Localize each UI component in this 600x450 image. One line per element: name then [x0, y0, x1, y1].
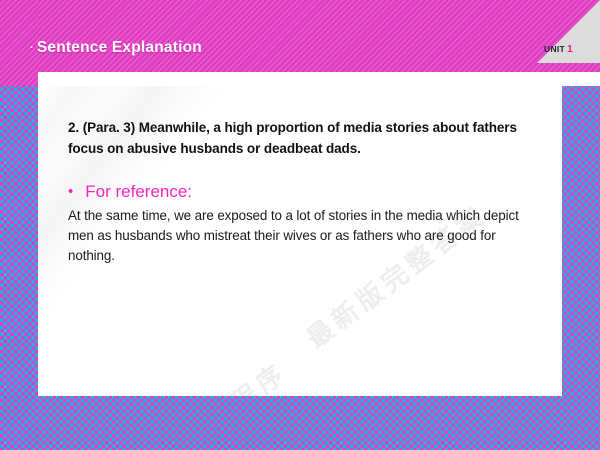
content-card: 微信小程序 最新版完整答案 2. (Para. 3) Meanwhile, a …: [38, 86, 562, 396]
slide-title: ·Sentence Explanation: [30, 39, 202, 57]
reference-heading: •For reference:: [68, 182, 538, 202]
unit-badge-number: 1: [567, 43, 573, 55]
header-band: [0, 0, 600, 72]
watermark-text-line1: 微信小程序: [148, 353, 294, 396]
content-body: 2. (Para. 3) Meanwhile, a high proportio…: [68, 118, 538, 265]
unit-badge-label: UNIT1: [544, 43, 573, 55]
unit-badge-label-text: UNIT: [544, 44, 565, 54]
slide-title-text: Sentence Explanation: [37, 39, 202, 56]
card-top-fill: [38, 72, 600, 86]
slide-root: ·Sentence Explanation UNIT1 微信小程序 最新版完整答…: [0, 0, 600, 450]
title-bullet-icon: ·: [30, 42, 34, 54]
unit-badge: UNIT1: [537, 0, 600, 63]
statement-text: 2. (Para. 3) Meanwhile, a high proportio…: [68, 118, 538, 160]
reference-heading-text: For reference:: [85, 182, 192, 201]
reference-bullet-icon: •: [68, 183, 73, 200]
reference-body-text: At the same time, we are exposed to a lo…: [68, 206, 536, 265]
